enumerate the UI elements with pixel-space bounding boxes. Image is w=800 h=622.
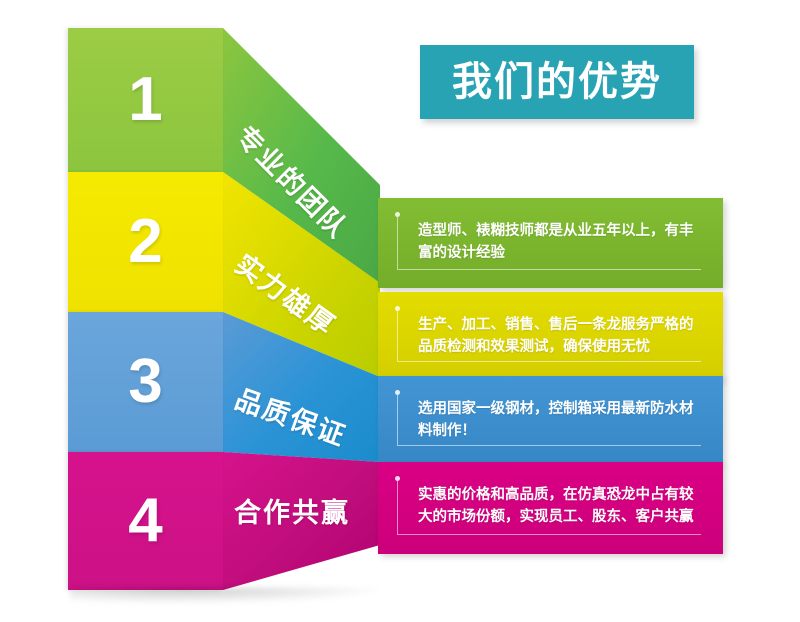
bracket-horizontal-rule	[397, 269, 701, 270]
step-front-4[interactable]: 4	[68, 452, 223, 590]
step-front-1[interactable]: 1	[68, 28, 223, 172]
description-panel-2[interactable]: 生产、加工、销售、售后一条龙服务严格的品质检测和效果测试，确保使用无忧	[378, 292, 723, 380]
step-number-4: 4	[68, 452, 223, 590]
bracket-horizontal-rule	[397, 445, 701, 446]
bracket-vertical-rule	[397, 395, 398, 445]
description-panel-1[interactable]: 造型师、裱糊技师都是从业五年以上，有丰富的设计经验	[378, 198, 723, 288]
description-text-1: 造型师、裱糊技师都是从业五年以上，有丰富的设计经验	[418, 220, 706, 265]
bracket-vertical-rule	[397, 311, 398, 361]
bracket-horizontal-rule	[397, 534, 701, 535]
stack-drop-shadow	[70, 588, 390, 604]
step-front-2[interactable]: 2	[68, 172, 223, 312]
bracket-vertical-rule	[397, 217, 398, 269]
description-text-4: 实惠的价格和高品质，在仿真恐龙中占有较大的市场份额，实现员工、股东、客户共赢	[418, 484, 706, 529]
page-title: 我们的优势	[452, 62, 662, 102]
step-front-3[interactable]: 3	[68, 312, 223, 452]
description-panel-3[interactable]: 选用国家一级钢材，控制箱采用最新防水材料制作！	[378, 376, 723, 464]
step-number-2: 2	[68, 172, 223, 312]
description-text-3: 选用国家一级钢材，控制箱采用最新防水材料制作！	[418, 398, 706, 443]
infographic-canvas: 1 2 3 4 专业的团队 实力雄厚 品质保证 合作共赢 我们的优势 造型师、裱…	[0, 0, 800, 622]
page-title-banner: 我们的优势	[420, 45, 694, 119]
step-number-1: 1	[68, 28, 223, 172]
step-number-3: 3	[68, 312, 223, 452]
bracket-horizontal-rule	[397, 361, 701, 362]
bracket-vertical-rule	[397, 481, 398, 534]
description-text-2: 生产、加工、销售、售后一条龙服务严格的品质检测和效果测试，确保使用无忧	[418, 314, 706, 359]
step-label-4: 合作共赢	[234, 500, 350, 527]
description-panel-4[interactable]: 实惠的价格和高品质，在仿真恐龙中占有较大的市场份额，实现员工、股东、客户共赢	[378, 462, 723, 554]
